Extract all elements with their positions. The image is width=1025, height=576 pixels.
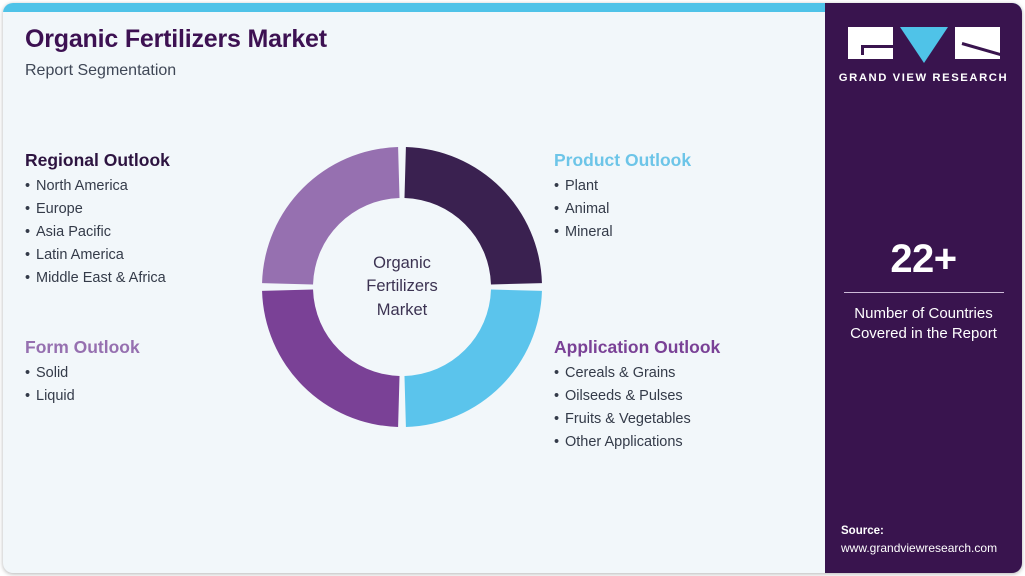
infographic-canvas: Organic Fertilizers Market Report Segmen… — [0, 0, 1025, 576]
bullet-icon: • — [554, 385, 565, 408]
list-item: •Latin America — [25, 244, 170, 267]
donut-segment — [262, 289, 399, 426]
segment-list-regional: •North America •Europe •Asia Pacific •La… — [25, 175, 170, 290]
segment-block-application: Application Outlook •Cereals & Grains •O… — [554, 337, 720, 454]
segment-list-form: •Solid •Liquid — [25, 362, 140, 408]
list-item-label: Fruits & Vegetables — [565, 411, 691, 427]
segment-title-form: Form Outlook — [25, 337, 140, 358]
stat-caption-line-2: Covered in the Report — [825, 324, 1022, 344]
header: Organic Fertilizers Market Report Segmen… — [25, 25, 725, 80]
segment-list-application: •Cereals & Grains •Oilseeds & Pulses •Fr… — [554, 362, 720, 454]
bullet-icon: • — [554, 221, 565, 244]
bullet-icon: • — [25, 362, 36, 385]
list-item: •Other Applications — [554, 431, 720, 454]
stat-caption-line-1: Number of Countries — [825, 304, 1022, 324]
source-footer: Source: www.grandviewresearch.com — [841, 523, 1021, 557]
bullet-icon: • — [25, 221, 36, 244]
list-item: •Liquid — [25, 385, 140, 408]
page-title: Organic Fertilizers Market — [25, 25, 725, 54]
segment-block-form: Form Outlook •Solid •Liquid — [25, 337, 140, 408]
list-item: •Asia Pacific — [25, 221, 170, 244]
list-item-label: Middle East & Africa — [36, 270, 166, 286]
list-item-label: Liquid — [36, 388, 75, 404]
bullet-icon: • — [25, 198, 36, 221]
list-item: •Plant — [554, 175, 691, 198]
list-item-label: Mineral — [565, 224, 613, 240]
donut-segment — [404, 147, 541, 284]
list-item-label: Animal — [565, 201, 609, 217]
bullet-icon: • — [554, 431, 565, 454]
list-item: •Europe — [25, 198, 170, 221]
list-item-label: Plant — [565, 178, 598, 194]
bullet-icon: • — [25, 267, 36, 290]
bullet-icon: • — [554, 198, 565, 221]
list-item-label: Europe — [36, 201, 83, 217]
sidebar: GRAND VIEW RESEARCH 22+ Number of Countr… — [825, 3, 1022, 573]
brand-logo: GRAND VIEW RESEARCH — [825, 27, 1022, 84]
list-item-label: Oilseeds & Pulses — [565, 388, 683, 404]
donut-segment — [404, 289, 541, 426]
bullet-icon: • — [25, 175, 36, 198]
segment-block-regional: Regional Outlook •North America •Europe … — [25, 150, 170, 290]
logo-wordmark: GRAND VIEW RESEARCH — [839, 72, 1008, 84]
donut-chart: Organic Fertilizers Market — [260, 145, 544, 429]
list-item: •Solid — [25, 362, 140, 385]
donut-chart-svg — [260, 145, 544, 429]
list-item-label: North America — [36, 178, 128, 194]
bullet-icon: • — [554, 175, 565, 198]
list-item: •Animal — [554, 198, 691, 221]
bullet-icon: • — [25, 244, 36, 267]
list-item-label: Latin America — [36, 247, 124, 263]
logo-marks — [848, 27, 1000, 63]
logo-letter-g-icon — [848, 27, 893, 59]
report-card: Organic Fertilizers Market Report Segmen… — [3, 3, 1022, 573]
segment-title-product: Product Outlook — [554, 150, 691, 171]
stat-divider — [844, 292, 1004, 293]
bullet-icon: • — [554, 362, 565, 385]
page-subtitle: Report Segmentation — [25, 61, 725, 80]
segment-title-regional: Regional Outlook — [25, 150, 170, 171]
segment-title-application: Application Outlook — [554, 337, 720, 358]
list-item-label: Asia Pacific — [36, 224, 111, 240]
list-item-label: Cereals & Grains — [565, 365, 675, 381]
segment-list-product: •Plant •Animal •Mineral — [554, 175, 691, 244]
source-url: www.grandviewresearch.com — [841, 540, 1021, 557]
donut-segment — [262, 147, 399, 284]
segment-block-product: Product Outlook •Plant •Animal •Mineral — [554, 150, 691, 244]
bullet-icon: • — [25, 385, 36, 408]
list-item: •Middle East & Africa — [25, 267, 170, 290]
list-item: •Oilseeds & Pulses — [554, 385, 720, 408]
source-label: Source: — [841, 523, 1021, 540]
list-item: •Cereals & Grains — [554, 362, 720, 385]
list-item: •Mineral — [554, 221, 691, 244]
list-item: •North America — [25, 175, 170, 198]
logo-letter-r-icon — [955, 27, 1000, 59]
stat-value: 22+ — [825, 239, 1022, 279]
bullet-icon: • — [554, 408, 565, 431]
list-item-label: Other Applications — [565, 434, 683, 450]
list-item-label: Solid — [36, 365, 68, 381]
logo-letter-v-triangle-icon — [900, 27, 948, 63]
stat-block-countries: 22+ Number of Countries Covered in the R… — [825, 239, 1022, 344]
list-item: •Fruits & Vegetables — [554, 408, 720, 431]
